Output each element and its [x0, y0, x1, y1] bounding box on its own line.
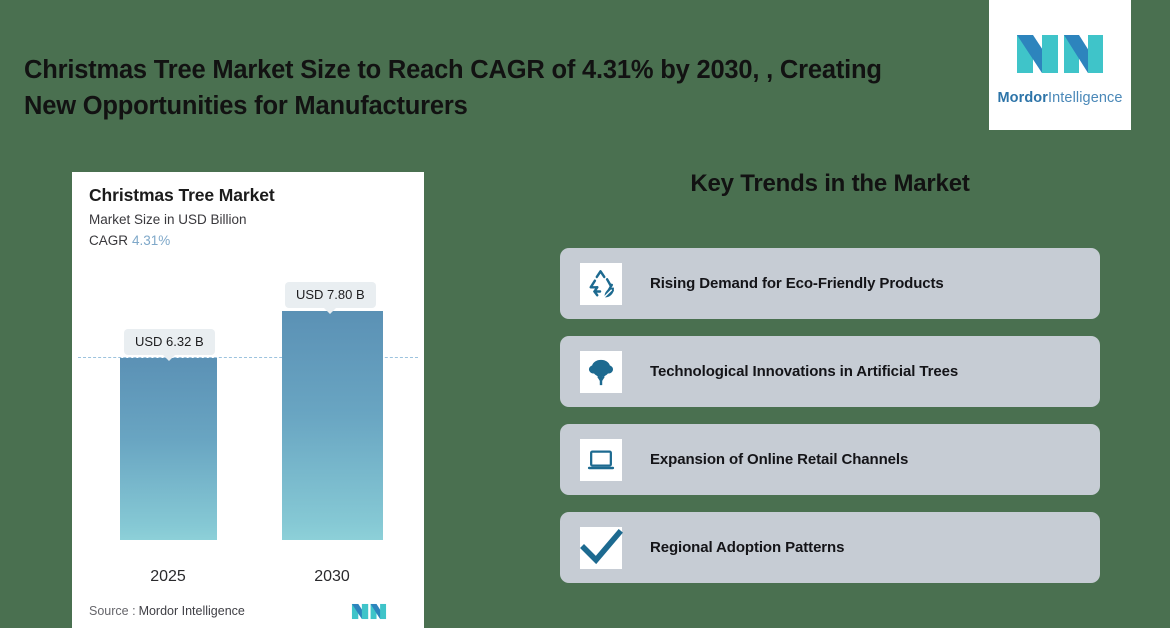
trend-label: Technological Innovations in Artificial … [650, 363, 958, 380]
chart-source-label: Source : [89, 604, 136, 618]
source-logo-icon [350, 600, 388, 623]
infographic-canvas: Christmas Tree Market Size to Reach CAGR… [0, 0, 1170, 628]
trend-label: Rising Demand for Eco-Friendly Products [650, 275, 944, 292]
brand-logo-card: MordorIntelligence [989, 0, 1131, 130]
laptop-icon [580, 439, 622, 481]
brand-wordmark: MordorIntelligence [997, 90, 1122, 106]
page-title: Christmas Tree Market Size to Reach CAGR… [24, 52, 904, 124]
trends-heading: Key Trends in the Market [560, 170, 1100, 198]
chart-panel: Christmas Tree Market Market Size in USD… [72, 172, 424, 628]
mordor-intelligence-logo [1017, 25, 1103, 83]
trend-label: Regional Adoption Patterns [650, 539, 844, 556]
bar-2025 [120, 358, 217, 540]
brand-word-light: Intelligence [1048, 90, 1123, 106]
chart-cagr-label: CAGR [89, 233, 128, 248]
chart-subtitle: Market Size in USD Billion [89, 212, 247, 227]
chart-title: Christmas Tree Market [89, 185, 275, 206]
trend-card-online-retail[interactable]: Expansion of Online Retail Channels [560, 424, 1100, 495]
bar-value-label-2030: USD 7.80 B [285, 282, 376, 308]
x-axis-label-2030: 2030 [272, 568, 392, 586]
tree-icon [580, 351, 622, 393]
trend-card-eco-friendly[interactable]: Rising Demand for Eco-Friendly Products [560, 248, 1100, 319]
chart-cagr-value: 4.31% [132, 233, 170, 248]
bar-2030 [282, 311, 383, 540]
chart-source: Source :Mordor Intelligence [89, 604, 245, 618]
bar-value-label-2025: USD 6.32 B [124, 329, 215, 355]
recycle-leaf-icon [580, 263, 622, 305]
trend-card-artificial-trees[interactable]: Technological Innovations in Artificial … [560, 336, 1100, 407]
brand-word-bold: Mordor [997, 90, 1048, 106]
x-axis-label-2025: 2025 [108, 568, 228, 586]
chart-cagr: CAGR4.31% [89, 233, 170, 248]
trend-label: Expansion of Online Retail Channels [650, 451, 908, 468]
checkmark-icon [580, 527, 622, 569]
trend-card-regional-adoption[interactable]: Regional Adoption Patterns [560, 512, 1100, 583]
chart-source-name: Mordor Intelligence [139, 604, 245, 618]
